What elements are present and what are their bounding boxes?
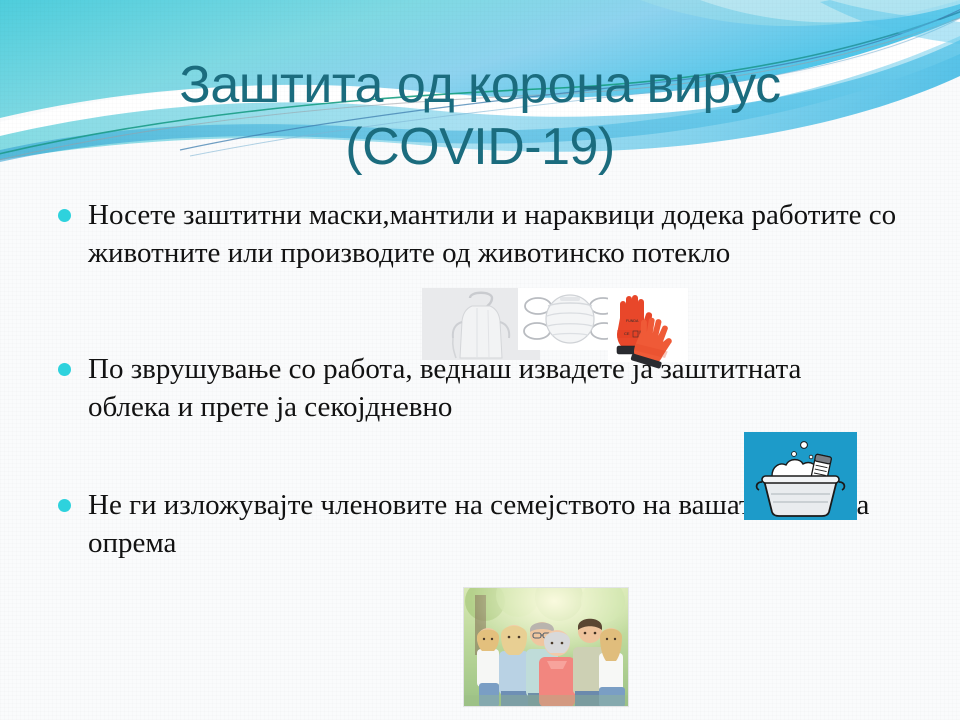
title-line-2: (COVID-19) [0, 116, 960, 178]
bullet-1-text: Носете заштитни маски,мантили и нараквиц… [88, 196, 950, 272]
page-title: Заштита од корона вирус (COVID-19) [0, 54, 960, 178]
respirator-mask-photo [518, 288, 622, 350]
bullet-dot-icon [58, 209, 71, 222]
bullet-dot-icon [58, 499, 71, 512]
bullet-dot-icon [58, 363, 71, 376]
list-item: Носете заштитни маски,мантили и нараквиц… [42, 196, 950, 272]
title-line-1: Заштита од корона вирус [0, 54, 960, 116]
red-safety-gloves-photo: FUNDA CE [608, 288, 688, 362]
svg-text:FUNDA: FUNDA [626, 319, 639, 323]
svg-text:CE: CE [624, 331, 630, 336]
ppe-image-group: FUNDA CE [422, 288, 688, 366]
slide-canvas: Заштита од корона вирус (COVID-19) Носет… [0, 0, 960, 720]
laundry-tub-clipart [744, 432, 857, 520]
family-group-photo [463, 587, 629, 707]
